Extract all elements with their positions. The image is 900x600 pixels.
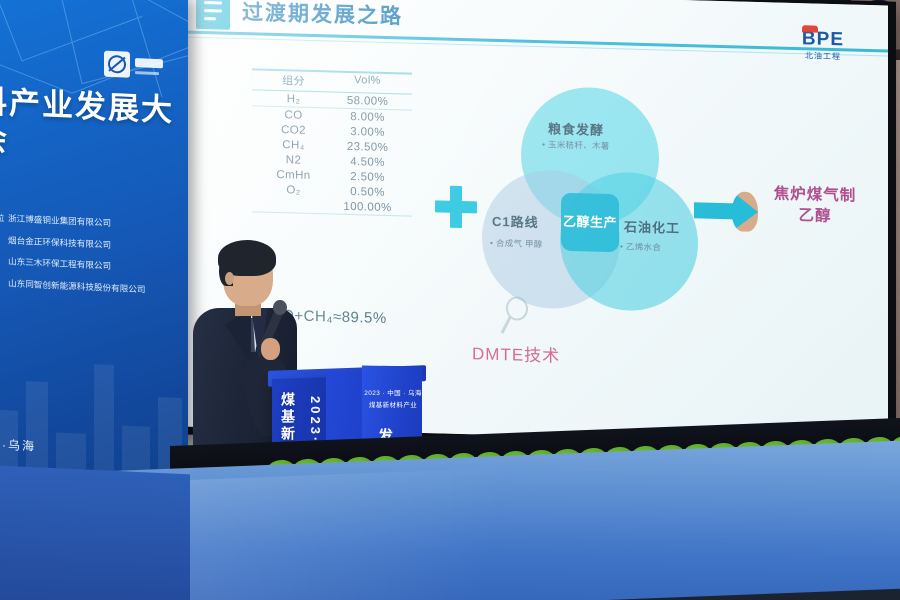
magnifier-icon <box>500 295 534 336</box>
speaker-ear <box>225 272 234 285</box>
cell-component: CO2 <box>258 123 329 137</box>
bpe-logo: BPE 北油工程 <box>802 29 844 62</box>
gas-composition-table: 组分 Vol% H₂ 58.00% CO 8.00% CO2 3.00% <box>252 68 412 217</box>
speaker-hand <box>261 338 280 360</box>
plus-icon <box>435 185 477 228</box>
cell-value: 58.00% <box>329 94 406 108</box>
cell-value: 4.50% <box>329 155 406 169</box>
cell-component: H₂ <box>258 92 329 106</box>
cell-value: 0.50% <box>329 185 406 199</box>
venn-bullet-c1: • 合成气 甲醇 <box>490 237 543 250</box>
cell-component: CH₄ <box>258 138 329 152</box>
cell-value: 2.50% <box>329 170 406 184</box>
cell-component: O₂ <box>258 183 329 197</box>
tech-label: DMTE技术 <box>472 339 560 366</box>
event-banner: 料产业发展大会 位 浙江博盛铜业集团有限公司 烟台金正环保科技有限公司 山东三木… <box>0 0 188 518</box>
venn-center-label: 乙醇生产 <box>561 193 619 253</box>
banner-company-list: 浙江博盛铜业集团有限公司 烟台金正环保科技有限公司 山东三木环保工程有限公司 山… <box>8 208 178 302</box>
venn-label-fermentation: 粮食发酵 <box>548 118 604 139</box>
cell-value: 8.00% <box>329 110 406 124</box>
column-header-component: 组分 <box>258 72 329 90</box>
right-arrow-icon <box>694 190 758 232</box>
venn-label-petrochemical: 石油化工 <box>624 216 680 237</box>
venn-label-c1: C1路线 <box>492 211 539 231</box>
magnifier-svg <box>500 295 534 336</box>
banner-support-label: 位 <box>0 212 5 224</box>
page-title: 过渡期发展之路 <box>242 0 403 30</box>
result-text: 焦炉煤气制乙醇 <box>767 184 863 228</box>
bpe-logo-sub: 北油工程 <box>802 50 844 62</box>
podium-front-line-2: 煤基新材料产业 <box>364 400 422 412</box>
bpe-logo-mark: BPE <box>802 29 844 49</box>
podium-front-header: 2023 · 中国 · 乌海 煤基新材料产业 <box>364 388 422 413</box>
venn-diagram: 粮食发酵 • 玉米秸秆、木薯 C1路线 • 合成气 甲醇 石油化工 • 乙烯水合… <box>482 85 698 321</box>
title-divider <box>182 30 888 52</box>
cell-total-label <box>258 198 329 212</box>
cell-total-value: 100.00% <box>329 200 406 214</box>
microphone-head-icon <box>273 300 287 315</box>
cell-component: N2 <box>258 153 329 167</box>
stage-floor-left <box>0 466 190 600</box>
organizer-logo <box>104 49 166 82</box>
cell-component: CmHn <box>258 168 329 182</box>
list-icon <box>196 0 230 30</box>
cell-component: CO <box>258 108 329 122</box>
cell-value: 23.50% <box>329 140 406 154</box>
venn-bullet-fermentation: • 玉米秸秆、木薯 <box>542 138 610 152</box>
photo-scene: 过渡期发展之路 BPE 北油工程 组分 Vol% H₂ 58.00% <box>0 0 900 600</box>
cell-value: 3.00% <box>329 125 406 139</box>
banner-title: 料产业发展大会 <box>0 84 188 167</box>
podium-front-line-1: 2023 · 中国 · 乌海 <box>364 388 422 400</box>
venn-bullet-petrochemical: • 乙烯水合 <box>620 240 661 253</box>
banner-city-label: ·乌海 <box>2 436 36 455</box>
organizer-logo-svg <box>104 49 166 82</box>
column-header-volume: Vol% <box>329 74 406 92</box>
